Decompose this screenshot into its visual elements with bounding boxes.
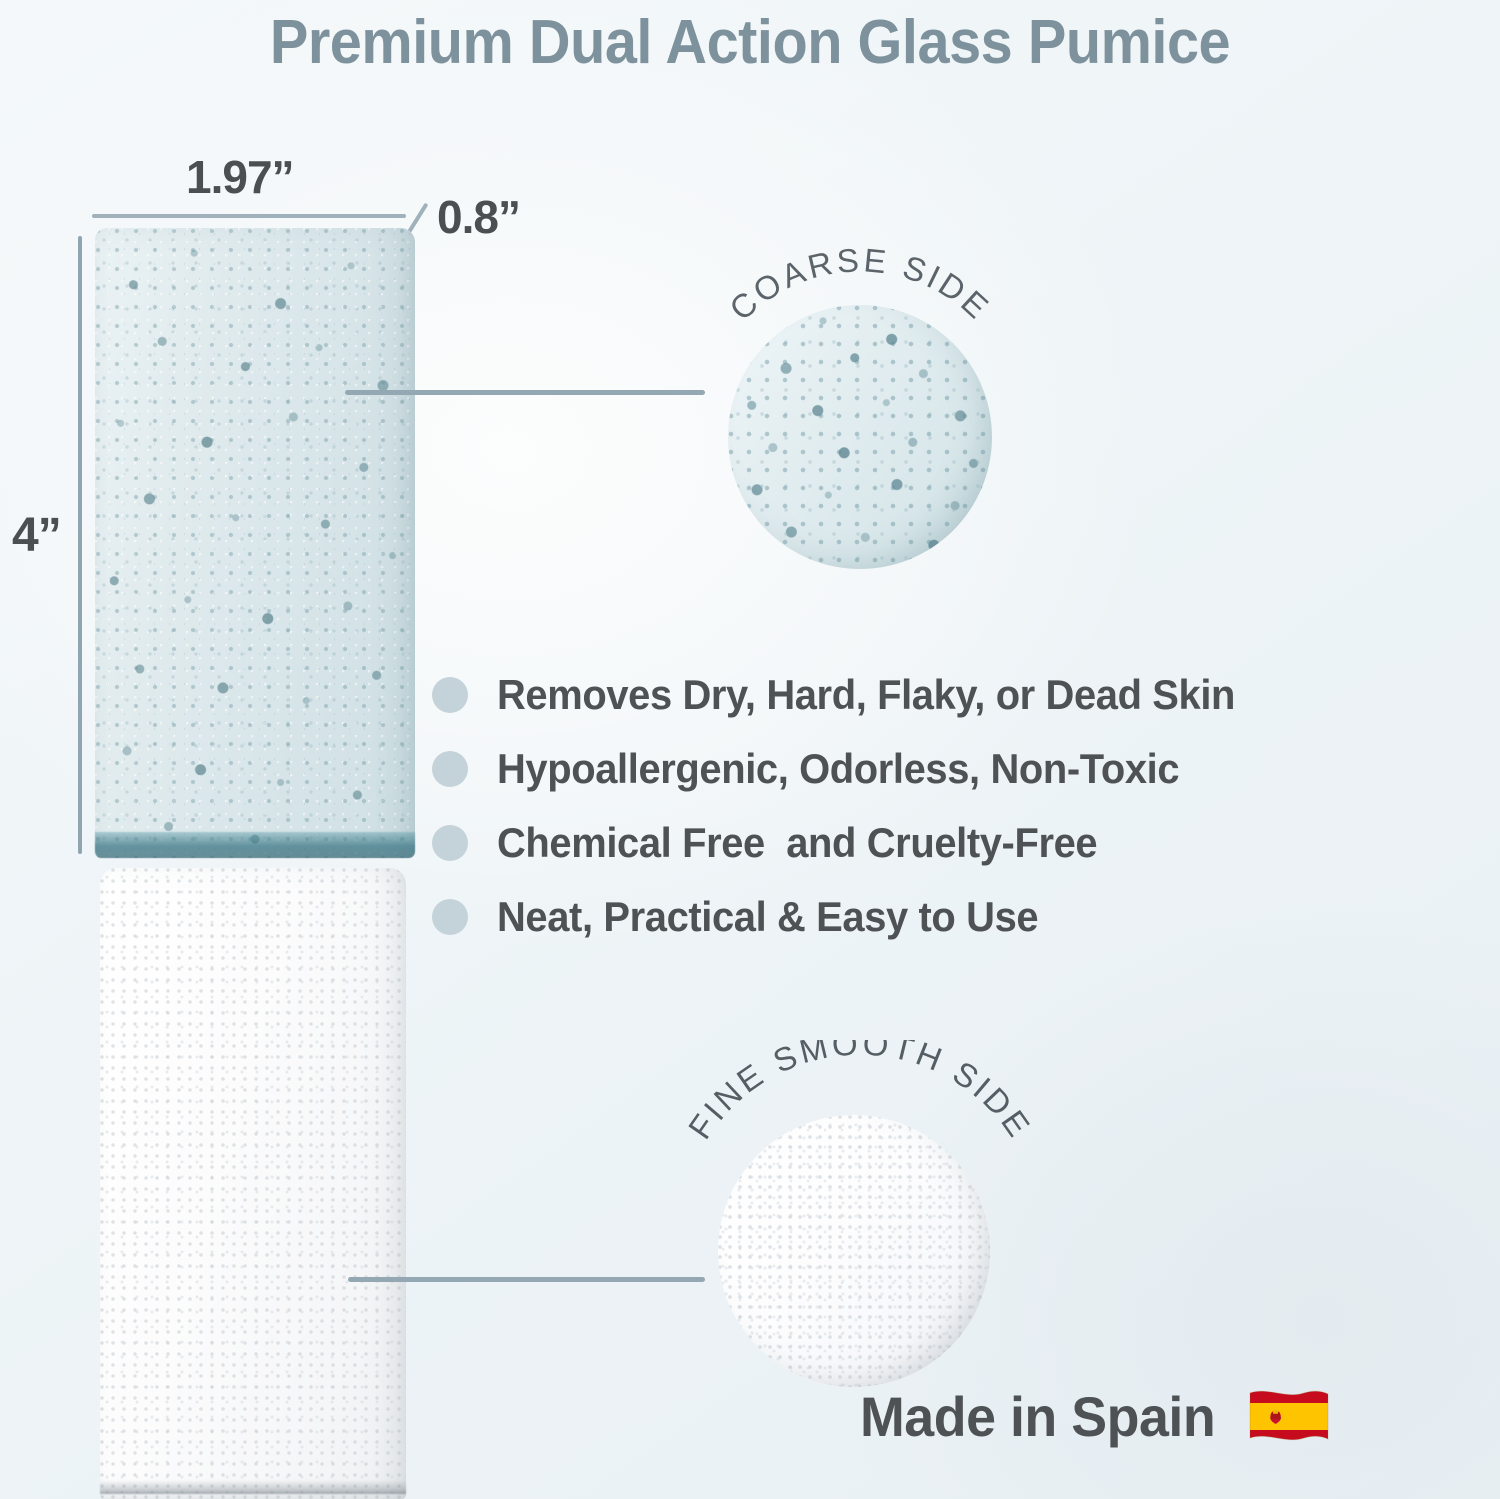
width-dimension-line <box>92 214 406 218</box>
bullet-dot-icon <box>432 677 468 713</box>
spain-flag-icon <box>1246 1387 1332 1447</box>
height-dimension-label: 4” <box>12 508 61 563</box>
fine-leader-line <box>348 1277 705 1282</box>
height-dimension-line <box>78 236 82 854</box>
list-item: Neat, Practical & Easy to Use <box>432 880 1332 954</box>
made-in-spain-badge: Made in Spain <box>860 1385 1332 1449</box>
fine-pumice-block: ZIUIIY <box>100 868 406 1499</box>
bullet-dot-icon <box>432 899 468 935</box>
made-in-spain-label: Made in Spain <box>860 1385 1215 1449</box>
feature-label: Neat, Practical & Easy to Use <box>497 893 1038 941</box>
feature-label: Removes Dry, Hard, Flaky, or Dead Skin <box>497 671 1235 719</box>
coarse-pumice-block <box>95 228 415 858</box>
feature-list: Removes Dry, Hard, Flaky, or Dead Skin H… <box>432 658 1332 954</box>
coarse-leader-line <box>345 390 705 395</box>
list-item: Removes Dry, Hard, Flaky, or Dead Skin <box>432 658 1332 732</box>
page-title: Premium Dual Action Glass Pumice <box>53 6 1448 80</box>
feature-label: Hypoallergenic, Odorless, Non-Toxic <box>497 745 1179 793</box>
fine-side-detail-circle <box>718 1115 990 1387</box>
bullet-dot-icon <box>432 825 468 861</box>
coarse-block-bottom-edge <box>95 832 415 858</box>
feature-label: Chemical Free and Cruelty-Free <box>497 819 1097 867</box>
list-item: Hypoallergenic, Odorless, Non-Toxic <box>432 732 1332 806</box>
width-dimension-label: 1.97” <box>186 150 294 204</box>
fine-block-bottom-edge <box>100 1480 406 1494</box>
infographic-canvas: Premium Dual Action Glass Pumice 1.97” 4… <box>0 0 1500 1499</box>
list-item: Chemical Free and Cruelty-Free <box>432 806 1332 880</box>
bullet-dot-icon <box>432 751 468 787</box>
depth-dimension-label: 0.8” <box>437 190 520 244</box>
coarse-side-detail-circle <box>728 305 992 569</box>
